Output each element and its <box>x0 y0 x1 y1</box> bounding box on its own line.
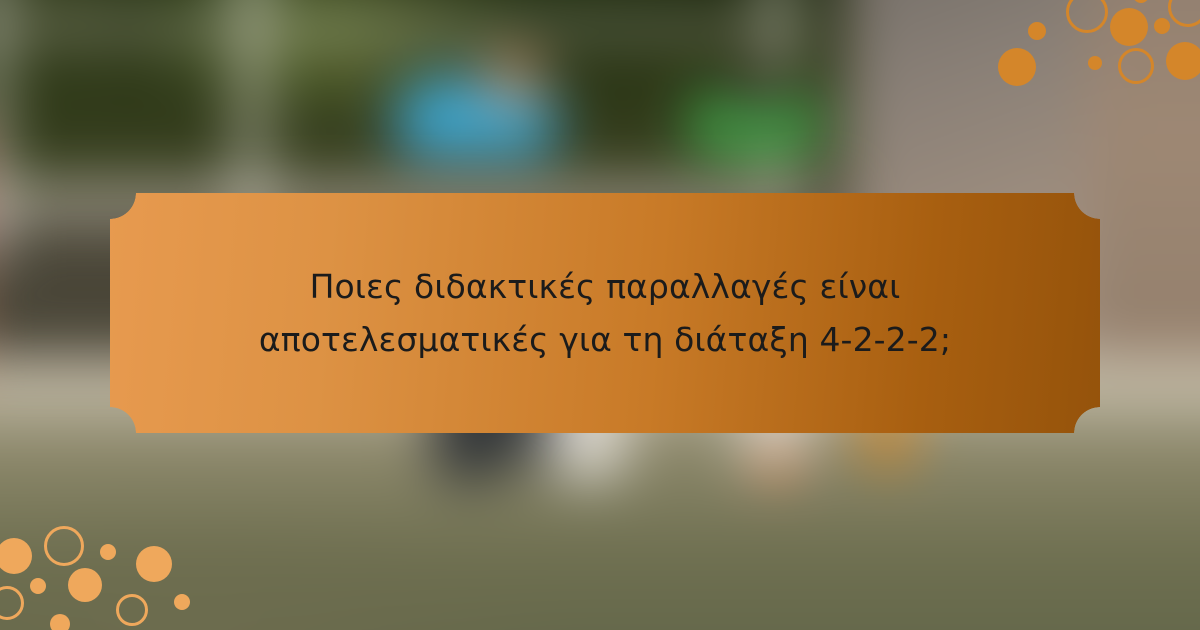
decorative-circle <box>116 594 148 626</box>
decorative-circle <box>30 578 46 594</box>
decorative-circle <box>136 546 172 582</box>
decorative-circle <box>1088 56 1102 70</box>
decorative-circle <box>174 594 190 610</box>
decorative-bubbles-top-right <box>970 0 1200 126</box>
decorative-circle <box>50 614 70 630</box>
background-shoe <box>757 453 799 476</box>
background-post-left <box>0 0 4 267</box>
question-text: Ποιες διδακτικές παραλλαγές είναι αποτελ… <box>259 260 951 367</box>
background-player-head-2 <box>729 66 784 115</box>
question-card-graphic: Ποιες διδακτικές παραλλαγές είναι αποτελ… <box>0 0 1200 630</box>
question-line-2: αποτελεσματικές για τη διάταξη 4-2-2-2; <box>259 320 951 359</box>
decorative-circle <box>1028 22 1046 40</box>
decorative-circle <box>100 544 116 560</box>
decorative-circle <box>1133 0 1149 3</box>
decorative-circle <box>1154 18 1170 34</box>
background-fence-rail-upper <box>0 15 812 43</box>
question-card: Ποιες διδακτικές παραλλαγές είναι αποτελ… <box>110 193 1100 433</box>
background-player-head-1 <box>481 53 545 106</box>
decorative-circle <box>1166 42 1200 80</box>
decorative-circle <box>1168 0 1200 27</box>
decorative-circle <box>44 526 84 566</box>
decorative-circle <box>68 568 102 602</box>
decorative-circle <box>0 586 24 620</box>
decorative-circle <box>1118 48 1154 84</box>
decorative-circle <box>1110 8 1148 46</box>
decorative-circle <box>1066 0 1108 33</box>
decorative-bubbles-bottom-left <box>0 516 233 630</box>
decorative-circle <box>0 538 32 574</box>
decorative-circle <box>998 48 1036 86</box>
question-line-1: Ποιες διδακτικές παραλλαγές είναι <box>310 267 901 306</box>
